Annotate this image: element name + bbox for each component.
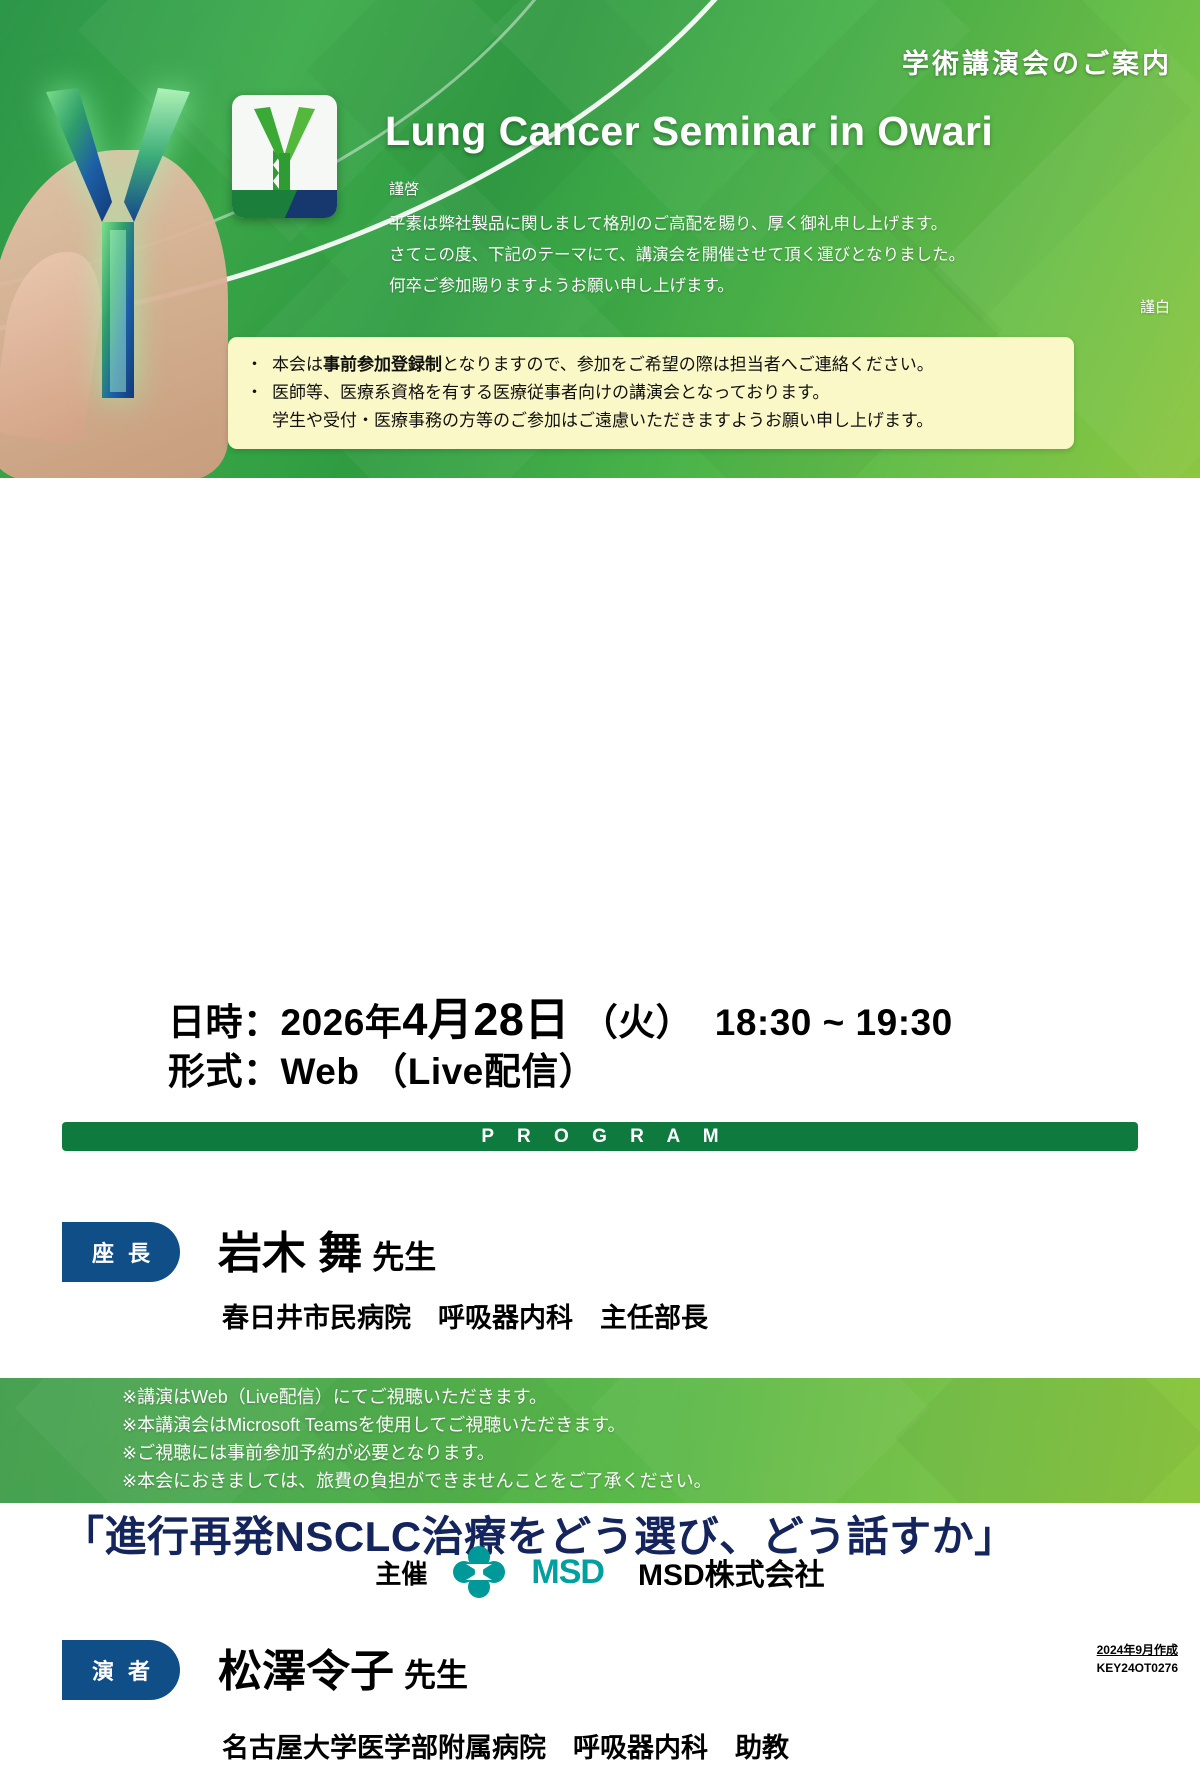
chair-name-block: 岩木 舞先生 — [218, 1217, 436, 1281]
notice-item-1-pre: 本会は — [272, 355, 323, 374]
notice-box: 本会は事前参加登録制となりますので、参加をご希望の際は担当者へご連絡ください。 … — [228, 337, 1074, 449]
chair-badge: 座 長 — [62, 1222, 180, 1282]
logo-band — [232, 190, 337, 218]
sponsor-row: 主催 MSD MSD株式会社 — [0, 1546, 1200, 1598]
greeting-closing: 謹白 — [1140, 296, 1170, 317]
document-code: KEY24OT0276 — [1097, 1661, 1178, 1675]
date-weekday: （火） — [581, 1002, 694, 1043]
sponsor-label: 主催 — [375, 1554, 427, 1591]
footer-note-2: ※本講演会はMicrosoft Teamsを使用してご視聴いただきます。 — [122, 1411, 712, 1439]
event-datetime: 日時：2026年4月28日 （火） 18:30 ~ 19:30 — [168, 983, 953, 1048]
y-leaf-logo-icon — [232, 95, 337, 195]
date-month: 4月 — [402, 994, 473, 1045]
greeting-line-3: 何卒ご参加賜りますようお願い申し上げます。 — [389, 271, 1029, 302]
footer-note-3: ※ご視聴には事前参加予約が必要となります。 — [122, 1439, 712, 1467]
speaker-name-block: 松澤令子先生 — [218, 1635, 468, 1699]
msd-wordmark: MSD — [531, 1553, 604, 1592]
event-time-range: 18:30 ~ 19:30 — [715, 1002, 953, 1043]
speaker-badge: 演 者 — [62, 1640, 180, 1700]
notice-item-2: 医師等、医療系資格を有する医療従事者向けの講演会となっております。 — [242, 379, 1056, 407]
speaker-honorific: 先生 — [404, 1657, 468, 1693]
footer-note-4: ※本会におきましては、旅費の負担ができませんことをご了承ください。 — [122, 1467, 712, 1495]
greeting-line-2: さてこの度、下記のテーマにて、講演会を開催させて頂く運びとなりました。 — [389, 240, 1029, 271]
speaker-affiliation: 名古屋大学医学部附属病院 呼吸器内科 助教 — [222, 1726, 789, 1765]
seminar-logo-card — [232, 95, 337, 218]
notice-item-2-continued: 学生や受付・医療事務の方等のご参加はご遠慮いただきますようお願い申し上げます。 — [242, 407, 1056, 435]
greeting-line-1: 平素は弊社製品に関しまして格別のご高配を賜り、厚く御礼申し上げます。 — [389, 209, 1029, 240]
chair-affiliation: 春日井市民病院 呼吸器内科 主任部長 — [222, 1296, 708, 1335]
footer-note-1: ※講演はWeb（Live配信）にてご視聴いただきます。 — [122, 1383, 712, 1411]
notice-item-1-bold: 事前参加登録制 — [323, 355, 442, 374]
document-code-block: 2024年9月作成 KEY24OT0276 — [1097, 1641, 1178, 1675]
event-format: 形式：Web （Live配信） — [168, 1041, 596, 1095]
format-label: 形式： — [168, 1051, 281, 1092]
datetime-label: 日時： — [168, 1002, 281, 1043]
speaker-name: 松澤令子 — [218, 1647, 394, 1696]
header-eyebrow: 学術講演会のご案内 — [902, 42, 1172, 81]
greeting-opening: 謹啓 — [389, 178, 1029, 199]
msd-clover-logo-icon — [453, 1546, 505, 1598]
notice-item-1-post: となりますので、参加をご希望の際は担当者へご連絡ください。 — [442, 355, 934, 374]
date-day: 28日 — [473, 994, 570, 1045]
format-value: Web （Live配信） — [281, 1051, 597, 1092]
program-banner: P R O G R A M — [62, 1122, 1138, 1151]
date-year: 2026年 — [281, 1002, 403, 1043]
chair-name: 岩木 舞 — [218, 1229, 362, 1278]
footer-notes: ※講演はWeb（Live配信）にてご視聴いただきます。 ※本講演会はMicros… — [122, 1383, 712, 1495]
document-created-date: 2024年9月作成 — [1097, 1641, 1178, 1658]
header-banner: 学術講演会のご案内 — [0, 0, 1200, 478]
glass-y-sculpture-icon — [38, 82, 198, 402]
notice-item-1: 本会は事前参加登録制となりますので、参加をご希望の際は担当者へご連絡ください。 — [242, 351, 1056, 379]
page-title: Lung Cancer Seminar in Owari — [385, 108, 993, 155]
chair-honorific: 先生 — [372, 1239, 436, 1275]
sponsor-company: MSD株式会社 — [638, 1550, 825, 1594]
greeting-block: 謹啓 平素は弊社製品に関しまして格別のご高配を賜り、厚く御礼申し上げます。 さて… — [389, 178, 1029, 302]
